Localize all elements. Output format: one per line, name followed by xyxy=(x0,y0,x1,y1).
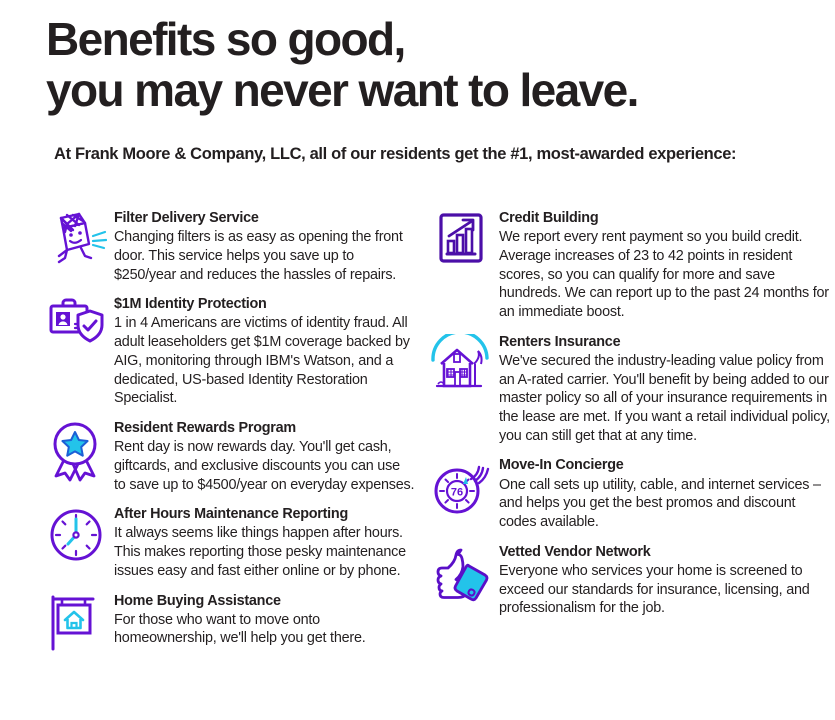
benefit-title: $1M Identity Protection xyxy=(114,295,415,313)
headline-line-1: Benefits so good, xyxy=(46,13,405,65)
benefits-columns: Filter Delivery Service Changing filters… xyxy=(0,208,835,659)
benefit-body: For those who want to move onto homeowne… xyxy=(114,611,415,648)
clock-icon xyxy=(38,504,114,572)
benefit-body: It always seems like things happen after… xyxy=(114,524,415,580)
benefit-title: Filter Delivery Service xyxy=(114,209,415,227)
benefit-item: After Hours Maintenance Reporting It alw… xyxy=(38,504,415,580)
smart-thermostat-icon: 76 xyxy=(423,455,499,523)
benefit-text: Vetted Vendor Network Everyone who servi… xyxy=(499,542,835,618)
benefits-column-right: Credit Building We report every rent pay… xyxy=(415,208,835,618)
benefit-text: Move-In Concierge One call sets up utili… xyxy=(499,455,835,531)
house-protection-arc-icon xyxy=(423,332,499,400)
benefit-item: Home Buying Assistance For those who wan… xyxy=(38,591,415,659)
benefit-title: Resident Rewards Program xyxy=(114,419,415,437)
id-badge-shield-check-icon xyxy=(38,294,114,362)
bar-chart-growth-icon xyxy=(423,208,499,276)
thermostat-reading: 76 xyxy=(451,487,463,499)
benefit-text: Credit Building We report every rent pay… xyxy=(499,208,835,322)
page-title: Benefits so good, you may never want to … xyxy=(46,14,795,115)
running-air-filter-icon xyxy=(38,208,114,276)
benefit-title: Vetted Vendor Network xyxy=(499,543,835,561)
benefit-body: Everyone who services your home is scree… xyxy=(499,562,835,618)
for-sale-sign-house-icon xyxy=(38,591,114,659)
header: Benefits so good, you may never want to … xyxy=(0,0,835,164)
benefit-text: Renters Insurance We've secured the indu… xyxy=(499,332,835,446)
benefit-text: Filter Delivery Service Changing filters… xyxy=(114,208,415,284)
benefit-body: 1 in 4 Americans are victims of identity… xyxy=(114,314,415,408)
benefit-item: Resident Rewards Program Rent day is now… xyxy=(38,418,415,494)
benefit-body: Rent day is now rewards day. You'll get … xyxy=(114,438,415,494)
benefit-title: Home Buying Assistance xyxy=(114,592,415,610)
benefit-title: Move-In Concierge xyxy=(499,456,835,474)
benefit-title: Renters Insurance xyxy=(499,333,835,351)
award-ribbon-star-icon xyxy=(38,418,114,486)
benefit-text: Resident Rewards Program Rent day is now… xyxy=(114,418,415,494)
benefit-body: Changing filters is as easy as opening t… xyxy=(114,228,415,284)
benefit-item: Vetted Vendor Network Everyone who servi… xyxy=(423,542,835,618)
benefit-item: 76 Move-In Concierge One call sets up ut… xyxy=(423,455,835,531)
benefits-column-left: Filter Delivery Service Changing filters… xyxy=(0,208,415,659)
benefits-flyer: Benefits so good, you may never want to … xyxy=(0,0,835,720)
thumbs-up-icon xyxy=(423,542,499,610)
benefit-title: Credit Building xyxy=(499,209,835,227)
benefit-text: After Hours Maintenance Reporting It alw… xyxy=(114,504,415,580)
benefit-body: We report every rent payment so you buil… xyxy=(499,228,835,322)
benefit-title: After Hours Maintenance Reporting xyxy=(114,505,415,523)
benefit-text: $1M Identity Protection 1 in 4 Americans… xyxy=(114,294,415,408)
benefit-item: $1M Identity Protection 1 in 4 Americans… xyxy=(38,294,415,408)
benefit-body: We've secured the industry-leading value… xyxy=(499,352,835,446)
benefit-item: Credit Building We report every rent pay… xyxy=(423,208,835,322)
benefit-text: Home Buying Assistance For those who wan… xyxy=(114,591,415,649)
benefit-body: One call sets up utility, cable, and int… xyxy=(499,476,835,532)
headline-line-2: you may never want to leave. xyxy=(46,65,795,116)
subheadline: At Frank Moore & Company, LLC, all of ou… xyxy=(54,145,795,164)
benefit-item: Filter Delivery Service Changing filters… xyxy=(38,208,415,284)
benefit-item: Renters Insurance We've secured the indu… xyxy=(423,332,835,446)
